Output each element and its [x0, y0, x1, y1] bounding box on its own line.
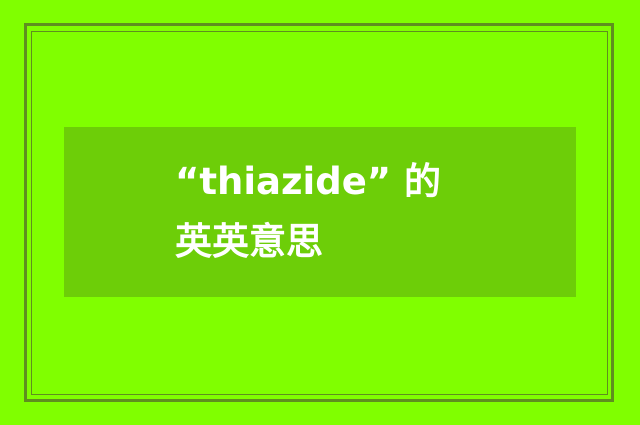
- page-title: “thiazide” 的英英意思: [175, 152, 465, 272]
- image-canvas: “thiazide” 的英英意思: [0, 0, 640, 425]
- title-banner: “thiazide” 的英英意思: [64, 127, 576, 297]
